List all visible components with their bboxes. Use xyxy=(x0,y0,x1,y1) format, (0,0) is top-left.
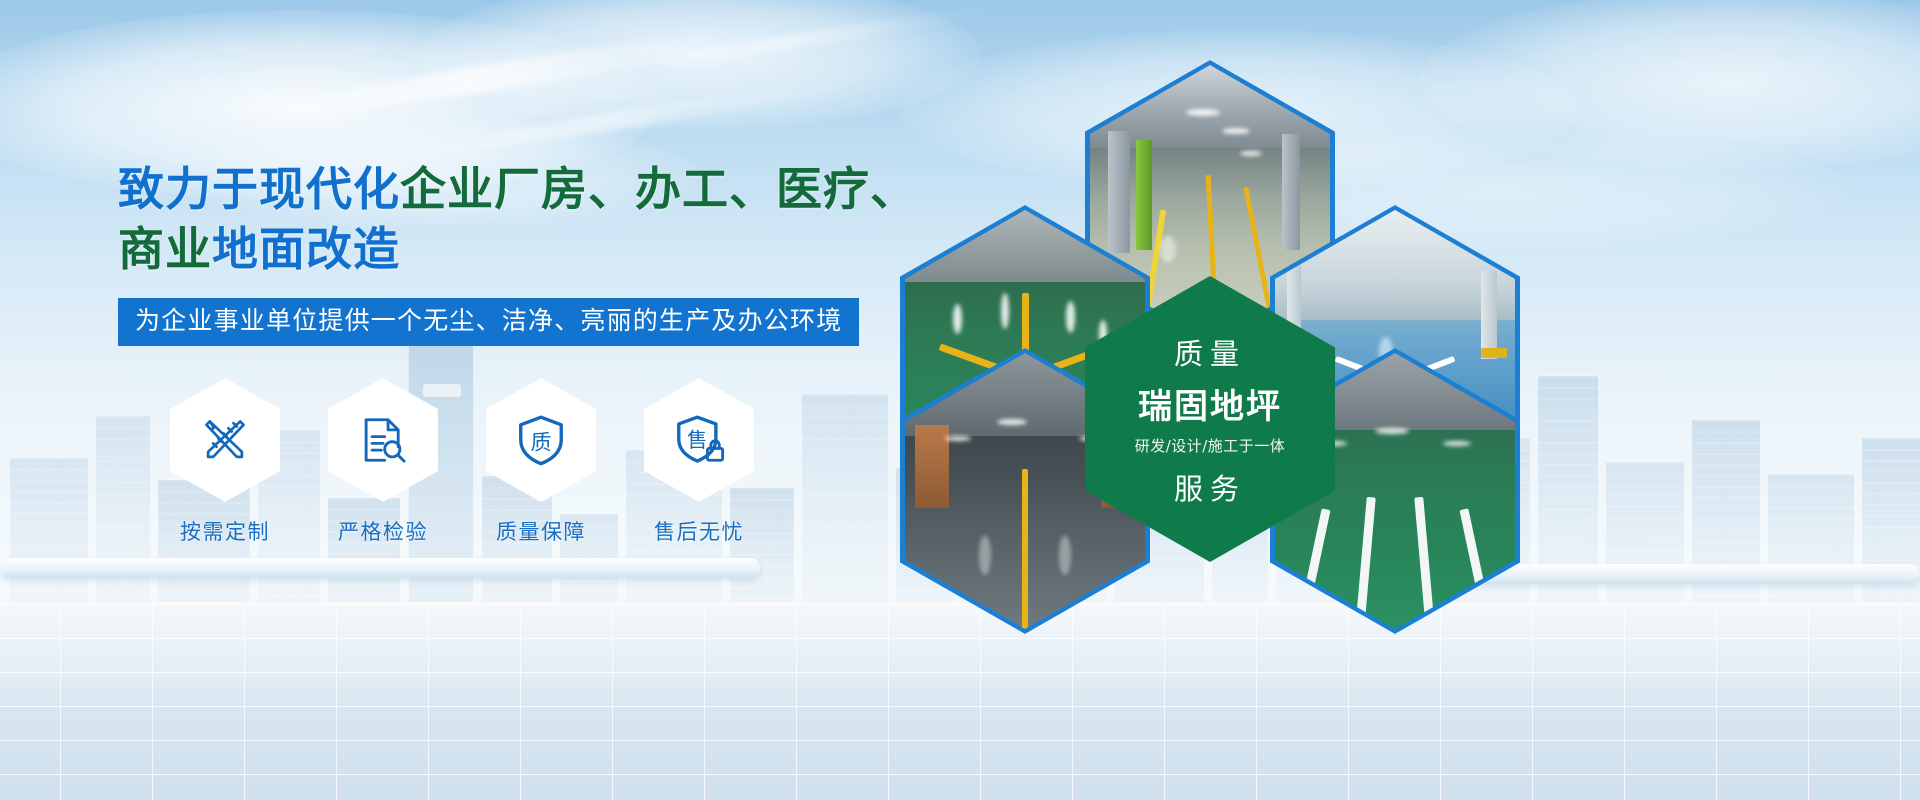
headline-part-blue: 致力于现代化 xyxy=(118,162,400,216)
feature-label: 按需定制 xyxy=(170,516,280,546)
banner-copy: 致力于现代化企业厂房、办工、医疗、 商业地面改造 为企业事业单位提供一个无尘、洁… xyxy=(118,160,938,346)
foreground-rail xyxy=(0,558,760,578)
feature-item-inspection[interactable]: 严格检验 xyxy=(328,378,438,546)
page-title: 致力于现代化企业厂房、办工、医疗、 商业地面改造 xyxy=(118,160,938,280)
headline2-part-blue: 地面改造 xyxy=(212,222,400,276)
logo-top-text: 质量 xyxy=(1174,331,1246,373)
feature-item-quality[interactable]: 质 质量保障 xyxy=(486,378,596,546)
banner-stage: 致力于现代化企业厂房、办工、医疗、 商业地面改造 为企业事业单位提供一个无尘、洁… xyxy=(0,0,1920,800)
feature-item-after-sales[interactable]: 售 售后无忧 xyxy=(644,378,754,546)
svg-text:质: 质 xyxy=(530,429,551,454)
logo-bottom-text: 服务 xyxy=(1174,466,1246,508)
feature-hex-shape xyxy=(328,378,438,502)
feature-hex-shape: 质 xyxy=(486,378,596,502)
feature-hex-shape xyxy=(170,378,280,502)
logo-brand-name: 瑞固地坪 xyxy=(1138,379,1282,428)
shield-quality-icon: 质 xyxy=(514,413,568,467)
after-sales-icon: 售 xyxy=(672,413,726,467)
subtitle-bar: 为企业事业单位提供一个无尘、洁净、亮丽的生产及办公环境 xyxy=(118,298,859,347)
feature-hex-shape: 售 xyxy=(644,378,754,502)
photo-hex-cluster: 质量 瑞固地坪 研发/设计/施工于一体 服务 xyxy=(900,60,1520,620)
svg-text:售: 售 xyxy=(687,428,707,452)
feature-item-custom[interactable]: 按需定制 xyxy=(170,378,280,546)
feature-label: 严格检验 xyxy=(328,516,438,546)
document-search-icon xyxy=(356,413,410,467)
headline2-part-green: 商业 xyxy=(118,222,212,276)
feature-label: 质量保障 xyxy=(486,516,596,546)
tiled-ground xyxy=(0,604,1920,800)
headline-part-green: 企业厂房、办工、医疗、 xyxy=(400,162,917,216)
feature-list: 按需定制 严格检验 xyxy=(170,378,754,546)
feature-label: 售后无忧 xyxy=(644,516,754,546)
ruler-pencil-icon xyxy=(198,413,252,467)
logo-tagline: 研发/设计/施工于一体 xyxy=(1135,435,1286,456)
